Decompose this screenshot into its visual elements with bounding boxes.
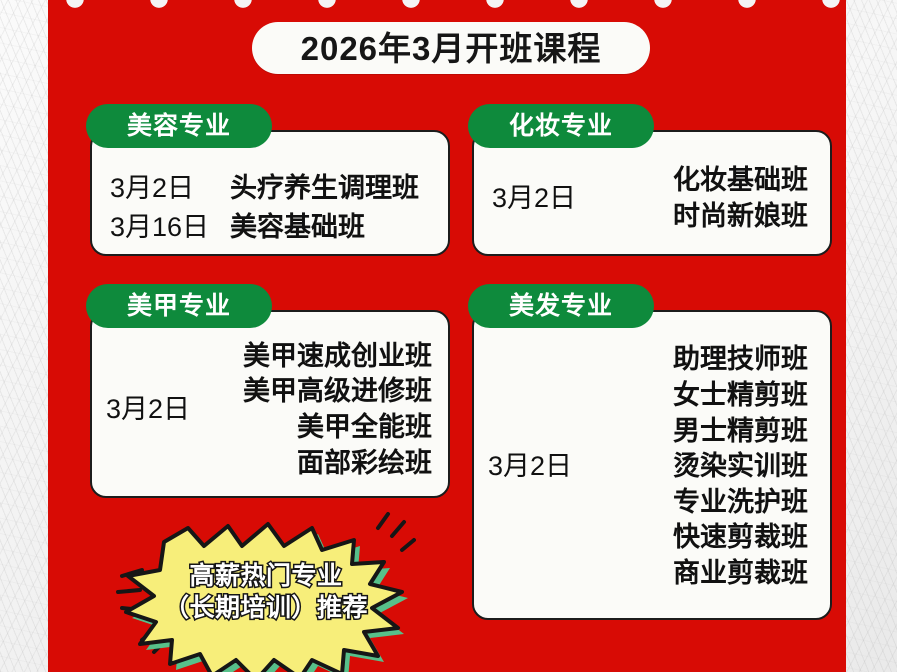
course-date: 3月2日: [106, 392, 190, 428]
tab-label-plate: 美甲专业: [86, 284, 272, 328]
table-row: 3月2日 头疗养生调理班: [110, 166, 448, 205]
course-date: 3月2日: [110, 166, 230, 205]
section-label: 美发专业: [509, 294, 613, 319]
course-list: 助理技师班 女士精剪班 男士精剪班 烫染实训班 专业洗护班 快速剪裁班 商业剪裁…: [572, 342, 808, 591]
course-name: 美甲全能班: [190, 410, 432, 446]
course-name: 快速剪裁班: [572, 520, 808, 556]
course-date: 3月16日: [110, 205, 230, 244]
nail-course-card: 3月2日 美甲速成创业班 美甲高级进修班 美甲全能班 面部彩绘班: [90, 310, 450, 498]
poster-title-pill: 2026年3月开班课程: [252, 22, 650, 74]
course-name: 女士精剪班: [572, 378, 808, 414]
starburst-fill: [126, 524, 402, 672]
course-list: 化妆基础班 时尚新娘班: [576, 163, 808, 234]
course-name: 烫染实训班: [572, 449, 808, 485]
course-name: 面部彩绘班: [190, 446, 432, 482]
section-makeup: 3月2日 化妆基础班 时尚新娘班 化妆专业: [460, 104, 832, 256]
course-name: 美甲速成创业班: [190, 339, 432, 375]
starburst-shape: [116, 512, 416, 672]
speed-lines-right: [378, 514, 414, 550]
course-name: 头疗养生调理班: [230, 166, 419, 205]
beauty-course-card: 3月2日 头疗养生调理班 3月16日 美容基础班: [90, 130, 450, 256]
course-date: 3月2日: [488, 449, 572, 485]
scalloped-top-edge: [48, 0, 846, 12]
course-list: 美甲速成创业班 美甲高级进修班 美甲全能班 面部彩绘班: [190, 339, 432, 482]
tab-label-plate: 美容专业: [86, 104, 272, 148]
section-hair: 3月2日 助理技师班 女士精剪班 男士精剪班 烫染实训班 专业洗护班 快速剪裁班…: [460, 284, 832, 620]
section-nail: 3月2日 美甲速成创业班 美甲高级进修班 美甲全能班 面部彩绘班 美甲专业: [78, 284, 450, 498]
page-title: 2026年3月开班课程: [301, 32, 602, 65]
section-label: 美容专业: [127, 114, 231, 139]
section-beauty: 3月2日 头疗养生调理班 3月16日 美容基础班 美容专业: [78, 104, 450, 256]
course-name: 化妆基础班: [576, 163, 808, 199]
poster-canvas: 2026年3月开班课程 3月2日 头疗养生调理班 3月16日 美容基础班 美容专…: [0, 0, 897, 672]
makeup-course-card: 3月2日 化妆基础班 时尚新娘班: [472, 130, 832, 256]
hair-course-card: 3月2日 助理技师班 女士精剪班 男士精剪班 烫染实训班 专业洗护班 快速剪裁班…: [472, 310, 832, 620]
course-name: 美甲高级进修班: [190, 374, 432, 410]
course-name: 助理技师班: [572, 342, 808, 378]
course-name: 专业洗护班: [572, 485, 808, 521]
table-row: 3月16日 美容基础班: [110, 205, 448, 244]
tab-label-plate: 美发专业: [468, 284, 654, 328]
course-name: 商业剪裁班: [572, 556, 808, 592]
course-name: 男士精剪班: [572, 414, 808, 450]
tab-label-plate: 化妆专业: [468, 104, 654, 148]
promo-starburst-badge: 高薪热门专业 （长期培训）推荐: [116, 512, 416, 672]
section-label: 化妆专业: [509, 114, 613, 139]
section-label: 美甲专业: [127, 294, 231, 319]
course-name: 美容基础班: [230, 205, 365, 244]
course-date: 3月2日: [492, 181, 576, 217]
course-name: 时尚新娘班: [576, 199, 808, 235]
